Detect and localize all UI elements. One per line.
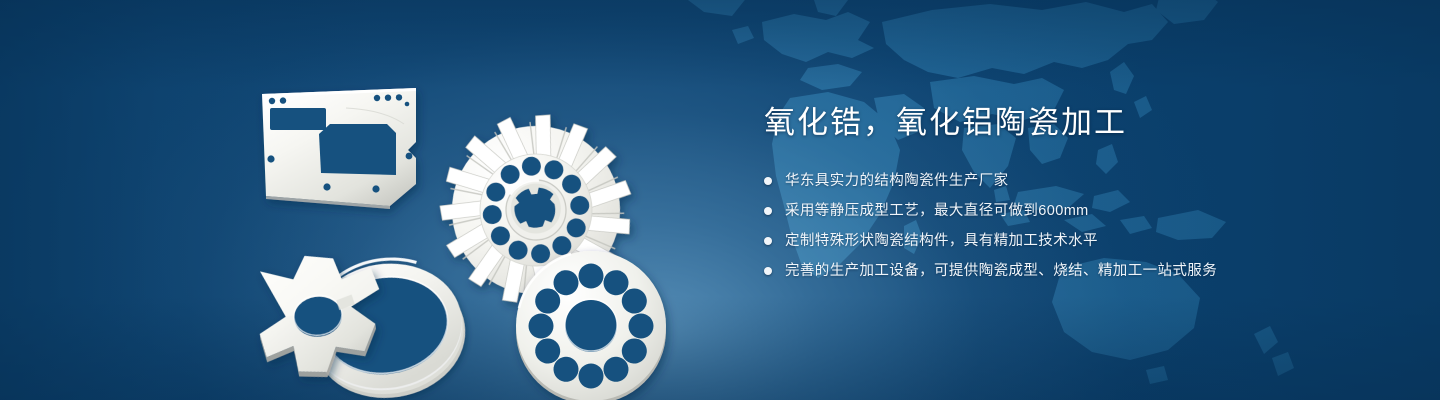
product-ceramic-perforated-disc (516, 251, 666, 400)
product-ceramic-flat-plate (262, 88, 416, 209)
feature-text: 采用等静压成型工艺，最大直径可做到600mm (785, 201, 1089, 221)
feature-text: 华东具实力的结构陶瓷件生产厂家 (785, 171, 1009, 191)
bullet-dot-icon (764, 267, 772, 275)
feature-item: 定制特殊形状陶瓷结构件，具有精加工技术水平 (764, 231, 1384, 252)
feature-item: 完善的生产加工设备，可提供陶瓷成型、烧结、精加工一站式服务 (764, 261, 1384, 282)
hero-banner: 氧化锆，氧化铝陶瓷加工 华东具实力的结构陶瓷件生产厂家 采用等静压成型工艺，最大… (0, 0, 1440, 400)
banner-headline: 氧化锆，氧化铝陶瓷加工 (764, 106, 1384, 141)
banner-feature-list: 华东具实力的结构陶瓷件生产厂家 采用等静压成型工艺，最大直径可做到600mm 定… (764, 171, 1384, 282)
feature-item: 采用等静压成型工艺，最大直径可做到600mm (764, 201, 1384, 222)
feature-item: 华东具实力的结构陶瓷件生产厂家 (764, 171, 1384, 192)
ceramic-products-photo (238, 38, 708, 390)
bullet-dot-icon (764, 237, 772, 245)
bullet-dot-icon (764, 177, 772, 185)
bullet-dot-icon (764, 207, 772, 215)
banner-text-column: 氧化锆，氧化铝陶瓷加工 华东具实力的结构陶瓷件生产厂家 采用等静压成型工艺，最大… (764, 106, 1384, 282)
feature-text: 完善的生产加工设备，可提供陶瓷成型、烧结、精加工一站式服务 (785, 261, 1217, 281)
feature-text: 定制特殊形状陶瓷结构件，具有精加工技术水平 (785, 231, 1098, 251)
